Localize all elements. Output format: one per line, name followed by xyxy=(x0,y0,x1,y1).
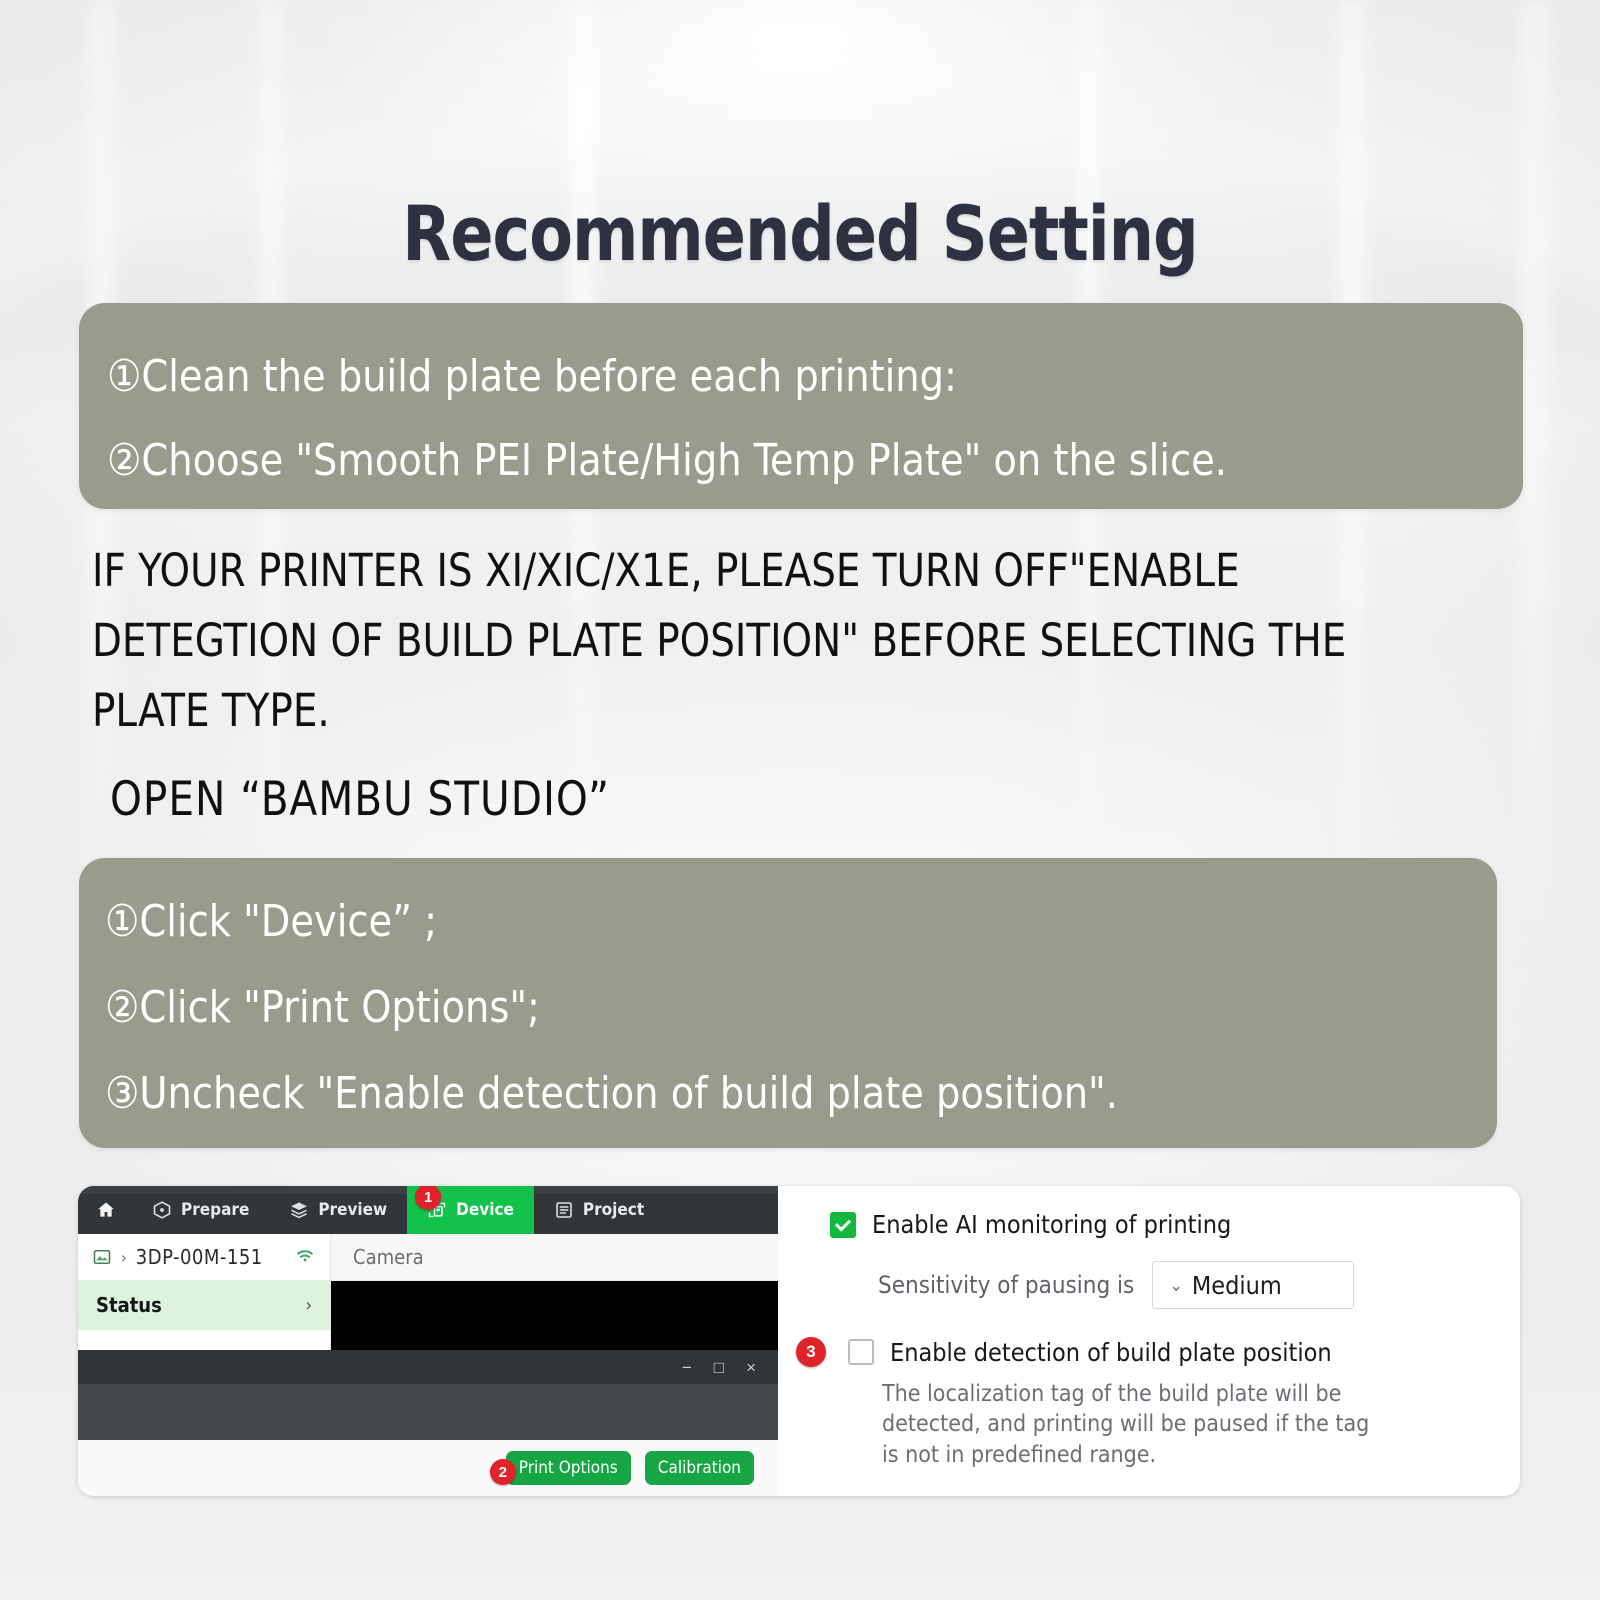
prepare-icon xyxy=(152,1200,172,1220)
print-options-dialog: Enable AI monitoring of printing Sensiti… xyxy=(778,1186,1520,1496)
nav-tab-preview[interactable]: Preview xyxy=(269,1186,407,1234)
open-bambu-studio-line: OPEN “BAMBU STUDIO” xyxy=(110,772,610,828)
window-controls-bar: − □ × xyxy=(78,1350,778,1384)
nav-home-button[interactable] xyxy=(78,1186,132,1234)
chevron-right-icon: › xyxy=(306,1295,312,1316)
nav-tab-device[interactable]: 1 Device xyxy=(407,1186,534,1234)
printer-icon xyxy=(92,1247,112,1267)
wifi-icon xyxy=(294,1244,316,1271)
ai-monitoring-label: Enable AI monitoring of printing xyxy=(872,1210,1231,1239)
warning-text: IF YOUR PRINTER IS XI/XIC/X1E, PLEASE TU… xyxy=(92,536,1417,745)
plate-detection-label: Enable detection of build plate position xyxy=(890,1338,1332,1367)
sensitivity-label: Sensitivity of pausing is xyxy=(878,1271,1134,1299)
app-navbar: Prepare Preview 1 xyxy=(78,1186,778,1234)
chevron-down-icon: ⌄ xyxy=(1169,1275,1183,1296)
plate-detection-row[interactable]: 3 Enable detection of build plate positi… xyxy=(830,1337,1520,1367)
action-button-row: 2 Print Options Calibration xyxy=(78,1440,778,1496)
steps-panel: ①Click "Device” ; ②Click "Print Options"… xyxy=(79,858,1497,1148)
home-icon xyxy=(96,1200,116,1220)
sidebar-item-label: Status xyxy=(96,1293,162,1317)
print-options-label: Print Options xyxy=(519,1458,618,1478)
nav-tab-label: Device xyxy=(456,1200,514,1220)
sidebar-item-status[interactable]: Status › xyxy=(78,1280,330,1330)
toolbar-strip xyxy=(78,1384,778,1440)
device-name: 3DP-00M-151 xyxy=(136,1245,263,1269)
sensitivity-select[interactable]: ⌄ Medium xyxy=(1152,1261,1354,1309)
camera-feed[interactable] xyxy=(331,1281,778,1350)
project-icon xyxy=(554,1200,574,1220)
layers-icon xyxy=(289,1200,309,1220)
close-button[interactable]: × xyxy=(746,1359,756,1376)
recommended-setting-panel: ①Clean the build plate before each print… xyxy=(79,303,1523,509)
sensitivity-row: Sensitivity of pausing is ⌄ Medium xyxy=(878,1261,1520,1309)
nav-tab-label: Prepare xyxy=(181,1200,249,1220)
calibration-button[interactable]: Calibration xyxy=(645,1451,754,1485)
ai-monitoring-checkbox[interactable] xyxy=(830,1212,856,1238)
panel1-line-1: ①Clean the build plate before each print… xyxy=(107,355,1481,399)
camera-panel: Camera xyxy=(331,1234,778,1350)
plate-detection-checkbox[interactable] xyxy=(848,1339,874,1365)
minimize-button[interactable]: − xyxy=(682,1359,692,1376)
nav-tab-label: Project xyxy=(583,1200,644,1220)
device-breadcrumb[interactable]: › 3DP-00M-151 xyxy=(78,1234,330,1280)
nav-tab-project[interactable]: Project xyxy=(534,1186,664,1234)
step-badge-3: 3 xyxy=(796,1337,826,1367)
sensitivity-value: Medium xyxy=(1192,1271,1282,1300)
nav-tab-label: Preview xyxy=(318,1200,387,1220)
calibration-label: Calibration xyxy=(658,1458,741,1478)
step-badge-2: 2 xyxy=(490,1459,516,1485)
camera-title: Camera xyxy=(353,1245,424,1269)
device-sidebar: › 3DP-00M-151 Status › xyxy=(78,1234,331,1350)
panel2-line-3: ③Uncheck "Enable detection of build plat… xyxy=(105,1072,1455,1116)
print-options-button[interactable]: 2 Print Options xyxy=(506,1451,631,1485)
maximize-button[interactable]: □ xyxy=(714,1359,724,1376)
panel1-line-2: ②Choose "Smooth PEI Plate/High Temp Plat… xyxy=(107,439,1481,483)
breadcrumb-chevron: › xyxy=(121,1248,127,1267)
panel2-line-1: ①Click "Device” ; xyxy=(105,900,1455,944)
panel2-line-2: ②Click "Print Options"; xyxy=(105,986,1455,1030)
bambu-studio-window: Prepare Preview 1 xyxy=(78,1186,778,1496)
poster-root: Recommended Setting ①Clean the build pla… xyxy=(0,0,1600,1600)
nav-tab-prepare[interactable]: Prepare xyxy=(132,1186,269,1234)
app-screenshot-card: Prepare Preview 1 xyxy=(78,1186,1520,1496)
page-title: Recommended Setting xyxy=(56,196,1544,272)
ai-monitoring-row[interactable]: Enable AI monitoring of printing xyxy=(830,1210,1520,1239)
app-body: › 3DP-00M-151 Status › Camera xyxy=(78,1234,778,1350)
plate-detection-description: The localization tag of the build plate … xyxy=(882,1379,1372,1470)
camera-header: Camera xyxy=(331,1234,778,1281)
